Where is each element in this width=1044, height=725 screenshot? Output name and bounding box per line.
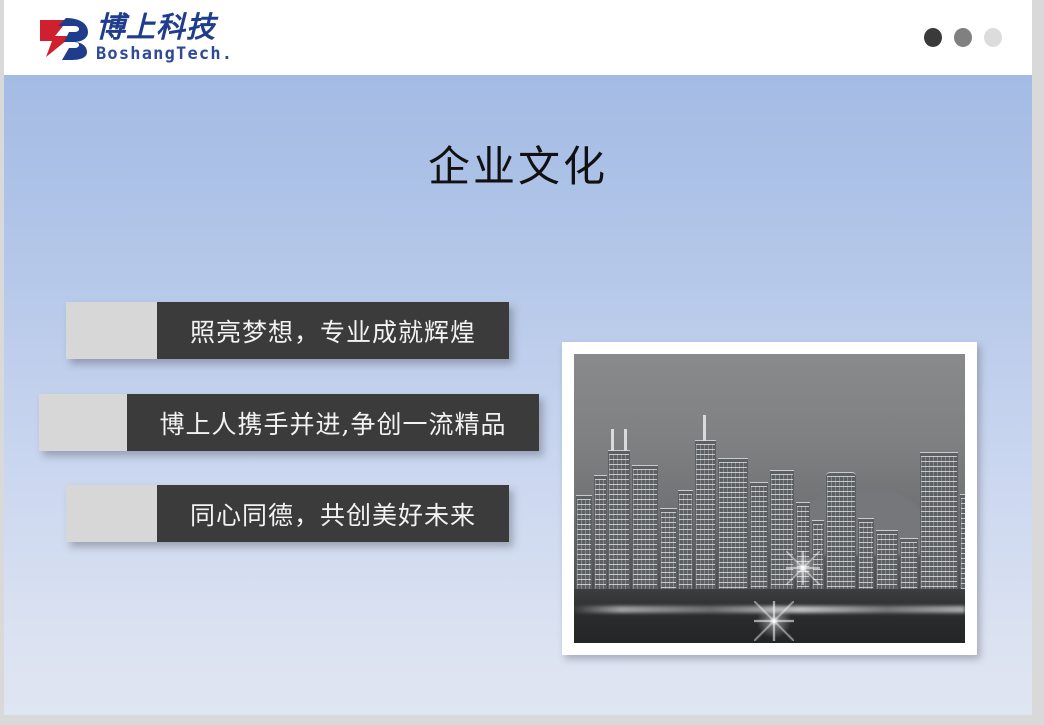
brand-logo[interactable]: 博上科技 BoshangTech. xyxy=(38,11,233,65)
slogan-bar-2[interactable]: 博上人携手并进,争创一流精品 xyxy=(39,394,539,451)
slide-header: 博上科技 BoshangTech. xyxy=(4,0,1032,75)
brand-name-en: BoshangTech. xyxy=(96,46,233,63)
pager-dot-2[interactable] xyxy=(954,28,972,47)
slogan-text-2: 博上人携手并进,争创一流精品 xyxy=(160,405,507,441)
slide-canvas: 博上科技 BoshangTech. 企业文化 照亮梦想，专业成就辉煌 xyxy=(4,0,1032,715)
slogan-text-1: 照亮梦想，专业成就辉煌 xyxy=(190,313,476,349)
city-skyline-night-photo xyxy=(574,354,965,643)
light-flare-2 xyxy=(754,601,794,641)
city-skyline-photo-frame[interactable] xyxy=(562,342,977,655)
slogan-bar-2-accent xyxy=(39,394,127,451)
pager-dot-3[interactable] xyxy=(984,28,1002,47)
pager-dot-1[interactable] xyxy=(924,28,942,47)
slogan-bar-3-body: 同心同德，共创美好未来 xyxy=(157,485,509,542)
presentation-window: 博上科技 BoshangTech. 企业文化 照亮梦想，专业成就辉煌 xyxy=(0,0,1044,725)
light-flare-1 xyxy=(786,551,820,585)
slogan-bar-2-body: 博上人携手并进,争创一流精品 xyxy=(127,394,539,451)
slogan-bar-3[interactable]: 同心同德，共创美好未来 xyxy=(66,485,509,542)
brand-wordmark: 博上科技 BoshangTech. xyxy=(96,13,233,63)
slogan-bar-1-body: 照亮梦想，专业成就辉煌 xyxy=(157,302,509,359)
slogan-bar-1[interactable]: 照亮梦想，专业成就辉煌 xyxy=(66,302,509,359)
slide-body: 企业文化 照亮梦想，专业成就辉煌 博上人携手并进,争创一流精品 xyxy=(4,75,1032,715)
slogan-text-3: 同心同德，共创美好未来 xyxy=(190,496,476,532)
boshang-b-logo-icon xyxy=(38,15,90,61)
slogan-bar-1-accent xyxy=(66,302,157,359)
slogan-bar-3-accent xyxy=(66,485,157,542)
pager-dots[interactable] xyxy=(924,28,1002,47)
brand-name-cn: 博上科技 xyxy=(96,13,233,44)
